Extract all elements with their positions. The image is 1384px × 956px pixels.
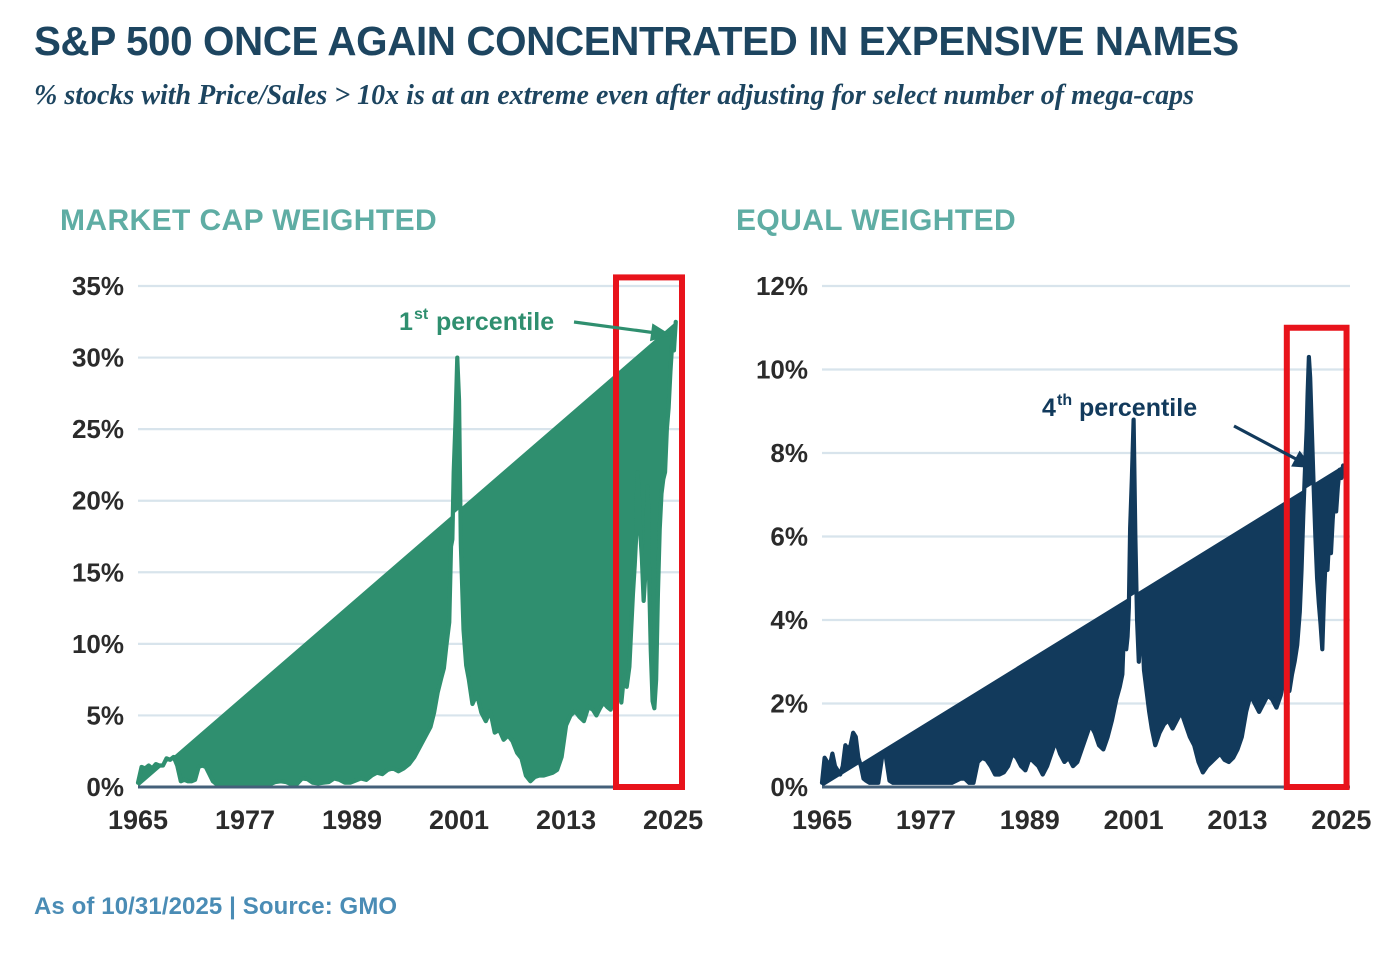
y-axis-tick-label: 8% [770,438,808,468]
y-axis-tick-label: 10% [756,355,808,385]
y-axis-tick-label: 35% [72,271,124,301]
x-axis-tick-label: 1977 [896,805,956,835]
chart-svg-right: 0%2%4%6%8%10%12%196519771989200120132025… [722,190,1384,860]
y-axis-tick-label: 10% [72,629,124,659]
chart-svg-left: 0%5%10%15%20%25%30%35%196519771989200120… [34,190,724,860]
page-title: S&P 500 ONCE AGAIN CONCENTRATED IN EXPEN… [34,18,1344,65]
x-axis-tick-label: 2013 [1207,805,1267,835]
annotation-number: 4 [1042,394,1056,422]
annotation-ordinal-suffix: th [1057,392,1072,409]
annotation-label: percentile [1079,394,1197,422]
series-area [138,322,676,787]
x-axis-tick-label: 1977 [215,805,275,835]
y-axis-tick-label: 25% [72,414,124,444]
chart-market-cap-weighted: 0%5%10%15%20%25%30%35%196519771989200120… [34,190,724,860]
y-axis-tick-label: 5% [86,700,124,730]
percentile-annotation: 4thpercentile [1042,392,1313,468]
y-axis-tick-label: 0% [770,772,808,802]
x-axis-tick-label: 2001 [1104,805,1164,835]
y-axis-tick-label: 2% [770,689,808,719]
annotation-number: 1 [399,308,413,336]
page-subtitle: % stocks with Price/Sales > 10x is at an… [34,78,1304,114]
annotation-label: percentile [436,308,554,336]
x-axis-tick-label: 1989 [322,805,382,835]
x-axis-tick-label: 2013 [536,805,596,835]
y-axis-tick-label: 15% [72,557,124,587]
chart-equal-weighted: 0%2%4%6%8%10%12%196519771989200120132025… [722,190,1384,860]
annotation-ordinal-suffix: st [414,306,429,323]
source-footnote: As of 10/31/2025 | Source: GMO [34,893,397,921]
y-axis-tick-label: 6% [770,522,808,552]
y-axis-tick-label: 4% [770,605,808,635]
x-axis-tick-label: 1965 [792,805,852,835]
y-axis-tick-label: 0% [86,772,124,802]
infographic-page: S&P 500 ONCE AGAIN CONCENTRATED IN EXPEN… [0,0,1384,956]
x-axis-tick-label: 2001 [429,805,489,835]
y-axis-tick-label: 20% [72,486,124,516]
percentile-annotation: 1stpercentile [399,306,671,341]
panel-market-cap-weighted: MARKET CAP WEIGHTED 0%5%10%15%20%25%30%3… [34,190,724,860]
panel-equal-weighted: EQUAL WEIGHTED 0%2%4%6%8%10%12%196519771… [722,190,1384,860]
x-axis-tick-label: 1989 [1000,805,1060,835]
x-axis-tick-label: 2025 [1311,805,1371,835]
x-axis-tick-label: 2025 [643,805,703,835]
y-axis-tick-label: 30% [72,343,124,373]
x-axis-tick-label: 1965 [108,805,168,835]
y-axis-tick-label: 12% [756,271,808,301]
